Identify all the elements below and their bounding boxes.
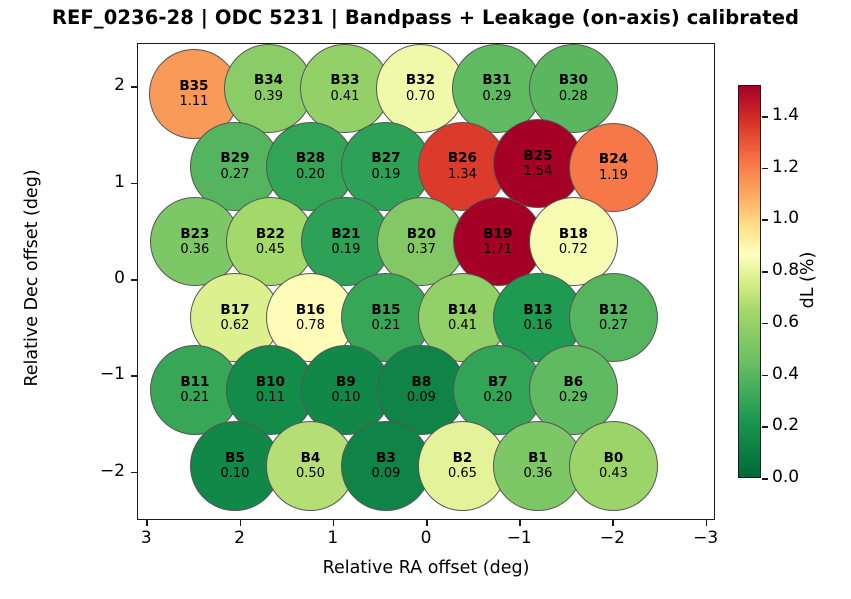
beam-label: B32	[406, 73, 435, 87]
beam-value: 0.16	[523, 319, 552, 333]
colorbar-tick	[762, 116, 768, 118]
beam-value: 0.37	[407, 243, 436, 257]
beam-value: 0.29	[559, 391, 588, 405]
beam-label: B4	[301, 451, 321, 465]
bubble-layer: B351.11B340.39B330.41B320.70B310.29B300.…	[138, 44, 714, 519]
x-tick-label: 0	[396, 528, 456, 548]
beam-value: 0.43	[599, 467, 628, 481]
figure-canvas: REF_0236-28 | ODC 5231 | Bandpass + Leak…	[0, 0, 851, 599]
beam-value: 0.36	[180, 243, 209, 257]
y-tick-label: 0	[85, 268, 125, 288]
colorbar-tick-label: 1.4	[772, 105, 799, 125]
beam-value: 0.20	[483, 391, 512, 405]
beam-label: B5	[225, 451, 245, 465]
beam-value: 0.70	[406, 90, 435, 104]
beam-value: 0.21	[180, 391, 209, 405]
beam-value: 0.19	[331, 243, 360, 257]
beam-label: B24	[599, 152, 628, 166]
y-tick-label: 1	[85, 172, 125, 192]
beam-value: 1.11	[179, 95, 208, 109]
colorbar-tick-label: 1.2	[772, 157, 799, 177]
beam-value: 0.50	[296, 467, 325, 481]
colorbar-tick	[762, 271, 768, 273]
beam-label: B35	[179, 79, 208, 93]
beam-label: B17	[220, 303, 249, 317]
x-tick	[519, 520, 521, 526]
beam-value: 0.41	[330, 90, 359, 104]
beam-value: 0.41	[448, 319, 477, 333]
beam-value: 0.11	[256, 391, 285, 405]
beam-label: B6	[564, 375, 584, 389]
beam-label: B0	[604, 451, 624, 465]
colorbar-tick	[762, 219, 768, 221]
beam-label: B13	[523, 303, 552, 317]
beam-label: B2	[453, 451, 473, 465]
beam-label: B12	[599, 303, 628, 317]
colorbar-tick	[762, 375, 768, 377]
colorbar-tick	[762, 426, 768, 428]
y-tick	[131, 472, 137, 474]
beam-value: 0.27	[220, 168, 249, 182]
x-axis-label: Relative RA offset (deg)	[137, 558, 715, 578]
beam-label: B14	[448, 303, 477, 317]
beam-value: 0.19	[371, 168, 400, 182]
beam-label: B10	[256, 375, 285, 389]
beam-label: B19	[483, 227, 512, 241]
beam-value: 0.39	[254, 90, 283, 104]
colorbar-tick	[762, 478, 768, 480]
x-tick-label: −1	[489, 528, 549, 548]
beam-value: 0.45	[256, 243, 285, 257]
beam-value: 0.21	[371, 319, 400, 333]
colorbar-tick	[762, 168, 768, 170]
x-tick-label: 2	[210, 528, 270, 548]
y-axis-label: Relative Dec offset (deg)	[22, 68, 42, 488]
beam-value: 0.28	[559, 90, 588, 104]
beam-label: B20	[407, 227, 436, 241]
beam-value: 1.71	[483, 243, 512, 257]
beam-label: B15	[371, 303, 400, 317]
colorbar-tick-label: 0.0	[772, 467, 799, 487]
plot-area: B351.11B340.39B330.41B320.70B310.29B300.…	[137, 43, 715, 520]
colorbar	[738, 85, 761, 478]
beam-value: 1.19	[599, 169, 628, 183]
x-tick	[706, 520, 708, 526]
beam-label: B34	[254, 73, 283, 87]
x-tick-label: 1	[303, 528, 363, 548]
beam-value: 0.62	[220, 319, 249, 333]
beam-label: B27	[371, 151, 400, 165]
colorbar-tick	[762, 323, 768, 325]
beam-label: B33	[330, 73, 359, 87]
beam-label: B7	[488, 375, 508, 389]
x-tick	[333, 520, 335, 526]
beam-label: B18	[559, 227, 588, 241]
beam-label: B26	[448, 151, 477, 165]
beam-label: B11	[180, 375, 209, 389]
colorbar-tick-label: 0.4	[772, 364, 799, 384]
beam-label: B9	[336, 375, 356, 389]
beam-value: 0.29	[482, 90, 511, 104]
beam-value: 0.09	[407, 391, 436, 405]
beam-label: B1	[528, 451, 548, 465]
y-tick-label: −2	[85, 461, 125, 481]
y-tick	[131, 375, 137, 377]
beam-value: 0.36	[523, 467, 552, 481]
x-tick	[146, 520, 148, 526]
beam-value: 0.27	[599, 319, 628, 333]
beam-label: B16	[296, 303, 325, 317]
y-tick	[131, 86, 137, 88]
x-tick	[426, 520, 428, 526]
y-tick-label: 2	[85, 75, 125, 95]
beam-label: B21	[331, 227, 360, 241]
y-tick	[131, 279, 137, 281]
beam-value: 0.65	[448, 467, 477, 481]
colorbar-label: dL (%)	[798, 160, 818, 400]
y-tick	[131, 183, 137, 185]
beam-label: B29	[220, 151, 249, 165]
beam-label: B3	[376, 451, 396, 465]
beam-label: B8	[412, 375, 432, 389]
colorbar-tick-label: 0.8	[772, 260, 799, 280]
beam-label: B25	[523, 149, 552, 163]
beam-value: 0.78	[296, 319, 325, 333]
x-tick-label: −2	[582, 528, 642, 548]
colorbar-tick-label: 0.6	[772, 312, 799, 332]
beam-value: 0.10	[331, 391, 360, 405]
beam-marker[interactable]: B00.43	[569, 421, 658, 510]
beam-value: 0.20	[296, 168, 325, 182]
x-tick	[612, 520, 614, 526]
x-tick-label: 3	[116, 528, 176, 548]
y-tick-label: −1	[85, 364, 125, 384]
beam-label: B30	[559, 73, 588, 87]
x-tick-label: −3	[676, 528, 736, 548]
beam-label: B22	[256, 227, 285, 241]
beam-value: 1.54	[523, 165, 552, 179]
beam-value: 1.34	[448, 168, 477, 182]
beam-value: 0.72	[559, 243, 588, 257]
page-title: REF_0236-28 | ODC 5231 | Bandpass + Leak…	[0, 6, 851, 29]
beam-value: 0.09	[371, 467, 400, 481]
beam-value: 0.10	[220, 467, 249, 481]
colorbar-tick-label: 0.2	[772, 415, 799, 435]
colorbar-tick-label: 1.0	[772, 208, 799, 228]
x-tick	[240, 520, 242, 526]
beam-label: B28	[296, 151, 325, 165]
beam-label: B31	[482, 73, 511, 87]
beam-label: B23	[180, 227, 209, 241]
